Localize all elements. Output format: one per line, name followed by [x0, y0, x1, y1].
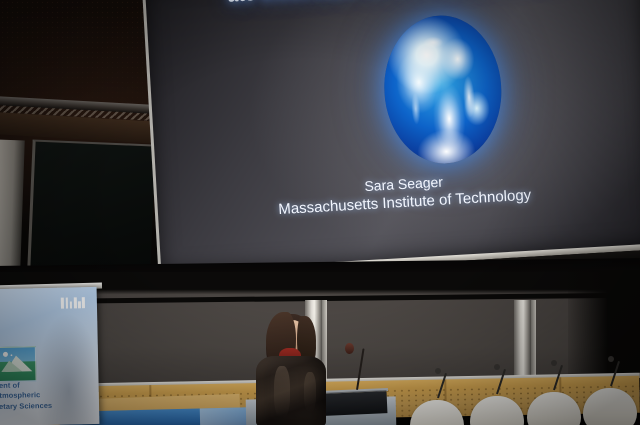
- slide-title-line-2: ate Essentials for a Habitable World: [142, 0, 640, 13]
- banner-cast-shadow: [35, 314, 101, 425]
- screen-surface: ne Goldilocks Zone: ate Essentials for a…: [142, 0, 640, 274]
- slide-credit: Sara Seager Massachusetts Institute of T…: [154, 162, 640, 227]
- desk-microphone-head: [494, 364, 500, 370]
- projection-screen: ne Goldilocks Zone: ate Essentials for a…: [142, 0, 640, 284]
- podium-microphone-head: [345, 343, 354, 354]
- slide-title: ne Goldilocks Zone: ate Essentials for a…: [141, 0, 640, 13]
- jacket-highlight-2: [304, 372, 316, 412]
- mit-logo-icon: [61, 297, 85, 308]
- desk-microphone-head: [551, 360, 557, 366]
- earth-globe-image: [380, 12, 505, 166]
- lecture-hall-photo: ne Goldilocks Zone: ate Essentials for a…: [0, 0, 640, 425]
- globe-cloud-swirl: [380, 12, 505, 166]
- desk-microphone-head: [435, 368, 441, 374]
- mountain-shape-2: [1, 361, 22, 372]
- upper-dark-window: [27, 139, 155, 271]
- mit-eaps-banner: artment of th, Atmospheric Planetary Sci…: [0, 287, 99, 425]
- eaps-emblem-icon: [0, 346, 37, 382]
- jacket-highlight: [274, 366, 290, 418]
- speaker-person: [252, 310, 330, 425]
- desk-microphone-head: [608, 356, 614, 362]
